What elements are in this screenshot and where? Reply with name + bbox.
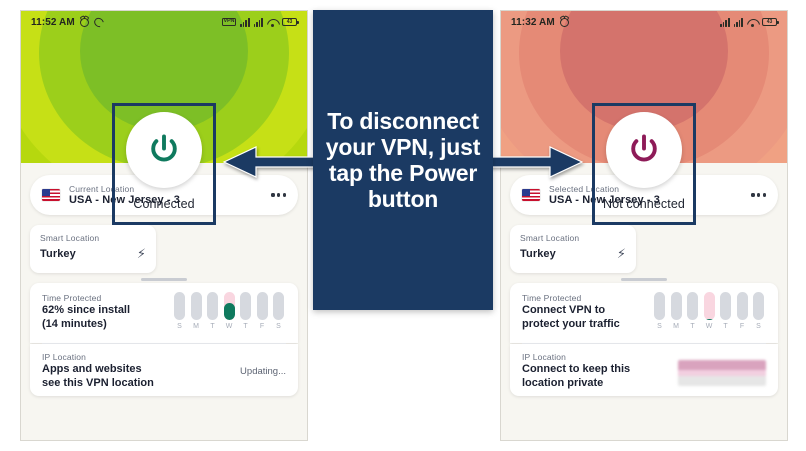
bar-column-t-2: T [207, 292, 218, 330]
bar-column-m-1: M [671, 292, 682, 330]
status-bar: 11:52 AM VPN 43 [21, 11, 307, 33]
instruction-panel: To disconnect your VPN, just tap the Pow… [313, 10, 493, 310]
bar-column-w-3: W [704, 292, 715, 330]
status-bar-right: VPN 43 [222, 18, 297, 27]
overflow-menu-icon[interactable] [751, 193, 766, 196]
power-icon [626, 132, 662, 168]
wifi-icon [747, 18, 758, 27]
bar-track [687, 292, 698, 320]
bar-column-t-4: T [240, 292, 251, 330]
us-flag-icon [522, 189, 540, 201]
connection-status-label: Not connected [603, 197, 685, 211]
sync-icon [94, 18, 104, 27]
power-button[interactable] [606, 112, 682, 188]
bar-day-label: T [210, 323, 214, 330]
bar-column-f-5: F [257, 292, 268, 330]
ip-location-value-line2: see this VPN location [42, 376, 154, 390]
smart-location-label: Smart Location [40, 233, 146, 243]
bar-track [207, 292, 218, 320]
battery-icon: 43 [762, 18, 777, 27]
bar-column-w-3: W [224, 292, 235, 330]
battery-level: 43 [767, 20, 773, 25]
ip-location-label: IP Location [42, 352, 154, 362]
smart-location-label: Smart Location [520, 233, 626, 243]
bar-fill [224, 303, 235, 320]
signal-icon-secondary [254, 18, 263, 27]
bar-track [753, 292, 764, 320]
smart-location-card[interactable]: Smart Location Turkey ⚡︎ [30, 225, 156, 273]
power-button-highlight: Not connected [592, 103, 696, 225]
ip-location-value-line2: location private [522, 376, 630, 390]
time-protected-value-line1: 62% since install [42, 303, 130, 317]
bar-day-label: F [740, 323, 744, 330]
bar-day-label: T [243, 323, 247, 330]
phone-screenshot-connected: 11:52 AM VPN 43 Conn [20, 10, 308, 441]
status-bar-clock: 11:52 AM [31, 17, 75, 28]
lightning-bolt-icon: ⚡︎ [617, 247, 626, 260]
ip-location-value-line1: Apps and websites [42, 362, 154, 376]
bar-track [720, 292, 731, 320]
bar-day-label: W [226, 323, 233, 330]
bar-day-label: F [260, 323, 264, 330]
ip-location-value-line1: Connect to keep this [522, 362, 630, 376]
battery-level: 43 [287, 20, 293, 25]
alarm-icon [560, 18, 569, 27]
status-bar-clock: 11:32 AM [511, 17, 555, 28]
bar-track [704, 292, 715, 320]
bar-column-s-0: S [174, 292, 185, 330]
signal-icon [240, 18, 249, 27]
bar-track [174, 292, 185, 320]
bar-track [671, 292, 682, 320]
bar-column-t-2: T [687, 292, 698, 330]
vpn-badge-icon: VPN [222, 18, 237, 27]
scroll-indicator [621, 278, 667, 281]
alarm-icon [80, 18, 89, 27]
time-protected-value-line2: (14 minutes) [42, 317, 130, 331]
signal-icon [720, 18, 729, 27]
power-icon [146, 132, 182, 168]
bar-track [240, 292, 251, 320]
bar-day-label: S [177, 323, 182, 330]
battery-icon: 43 [282, 18, 297, 27]
bar-day-label: S [657, 323, 662, 330]
bar-column-m-1: M [191, 292, 202, 330]
status-bar-left: 11:32 AM [511, 17, 569, 28]
weekly-bar-chart: SMTWTFS [174, 292, 286, 330]
bar-day-label: S [276, 323, 281, 330]
signal-icon-secondary [734, 18, 743, 27]
bar-track [654, 292, 665, 320]
bar-column-t-4: T [720, 292, 731, 330]
bar-column-s-6: S [753, 292, 764, 330]
weekly-bar-chart: SMTWTFS [654, 292, 766, 330]
smart-location-value: Turkey [40, 248, 76, 260]
bar-day-label: T [690, 323, 694, 330]
phone-screenshot-not-connected: 11:32 AM 43 Not connected [500, 10, 788, 441]
redacted-ip-address [678, 360, 766, 386]
time-protected-card[interactable]: Time Protected 62% since install (14 min… [30, 283, 298, 343]
bar-track [257, 292, 268, 320]
bar-day-label: M [193, 323, 199, 330]
comparison-figure: 11:52 AM VPN 43 Conn [0, 0, 806, 451]
status-bar: 11:32 AM 43 [501, 11, 787, 33]
bar-column-s-0: S [654, 292, 665, 330]
connection-status-label: Connected [133, 197, 194, 211]
time-protected-value-line2: protect your traffic [522, 317, 620, 331]
time-protected-label: Time Protected [42, 293, 130, 303]
bar-track [191, 292, 202, 320]
ip-location-label: IP Location [522, 352, 630, 362]
bar-column-s-6: S [273, 292, 284, 330]
arrow-pointing-left [222, 145, 318, 179]
us-flag-icon [42, 189, 60, 201]
time-protected-card[interactable]: Time Protected Connect VPN to protect yo… [510, 283, 778, 343]
bar-day-label: W [706, 323, 713, 330]
bar-day-label: T [723, 323, 727, 330]
scroll-indicator [141, 278, 187, 281]
ip-location-card[interactable]: IP Location Apps and websites see this V… [30, 344, 298, 396]
power-button[interactable] [126, 112, 202, 188]
arrow-pointing-right [488, 145, 584, 179]
overflow-menu-icon[interactable] [271, 193, 286, 196]
smart-location-value: Turkey [520, 248, 556, 260]
smart-location-card[interactable]: Smart Location Turkey ⚡︎ [510, 225, 636, 273]
bar-day-label: S [756, 323, 761, 330]
lightning-bolt-icon: ⚡︎ [137, 247, 146, 260]
time-protected-value-line1: Connect VPN to [522, 303, 620, 317]
ip-location-card[interactable]: IP Location Connect to keep this locatio… [510, 344, 778, 396]
wifi-icon [267, 18, 278, 27]
bar-track [273, 292, 284, 320]
status-bar-left: 11:52 AM [31, 17, 104, 28]
power-button-highlight: Connected [112, 103, 216, 225]
status-bar-right: 43 [720, 18, 777, 27]
ip-location-status: Updating... [240, 352, 286, 377]
bar-track [224, 292, 235, 320]
bar-column-f-5: F [737, 292, 748, 330]
bar-day-label: M [673, 323, 679, 330]
bar-fill [704, 319, 715, 320]
time-protected-label: Time Protected [522, 293, 620, 303]
bar-track [737, 292, 748, 320]
instruction-text: To disconnect your VPN, just tap the Pow… [313, 108, 493, 213]
